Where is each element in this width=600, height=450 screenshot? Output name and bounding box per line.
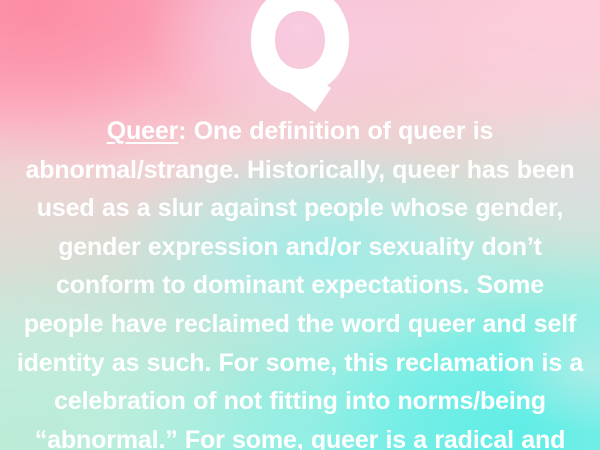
definition-card: Queer: One definition of queer is abnorm… <box>0 0 600 450</box>
logo-area <box>0 0 600 112</box>
definition-term: Queer <box>107 117 179 145</box>
definition-body: One definition of queer is abnormal/stra… <box>17 117 583 450</box>
definition-text-block: Queer: One definition of queer is abnorm… <box>0 112 600 450</box>
definition-paragraph: Queer: One definition of queer is abnorm… <box>14 112 586 450</box>
letter-q-logo-icon <box>239 0 361 118</box>
definition-separator: : <box>178 117 193 145</box>
